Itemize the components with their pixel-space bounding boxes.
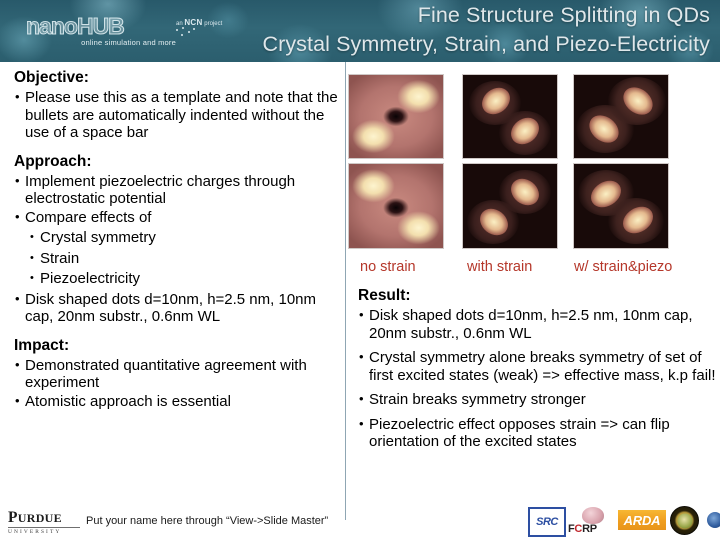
logo-hub-text: HUB	[77, 13, 124, 39]
approach-heading: Approach:	[14, 152, 344, 171]
sponsor-logos: SRC FCRP ARDA	[528, 505, 716, 537]
list-item: Disk shaped dots d=10nm, h=2.5 nm, 10nm …	[358, 307, 716, 342]
column-divider	[345, 62, 346, 520]
list-item: Piezoelectric effect opposes strain => c…	[358, 416, 716, 451]
src-logo: SRC	[528, 507, 566, 537]
list-item: Please use this as a template and note t…	[14, 89, 344, 142]
figure-label-strain-piezo: w/ strain&piezo	[574, 258, 672, 276]
impact-heading: Impact:	[14, 336, 344, 355]
list-item: Disk shaped dots d=10nm, h=2.5 nm, 10nm …	[14, 291, 344, 326]
government-seal-logo	[670, 506, 699, 535]
fcrp-logo: FCRP	[568, 507, 612, 535]
panel-strain-piezo-state-1	[573, 74, 669, 159]
figure-label-no-strain: no strain	[360, 258, 416, 276]
slide-title: Fine Structure Splitting in QDs Crystal …	[150, 1, 710, 59]
list-item: Implement piezoelectric charges through …	[14, 173, 344, 208]
wavefunction-plot	[574, 164, 668, 248]
nsf-globe-icon	[707, 512, 720, 528]
purdue-logo: PURDUE UNIVERSITY	[8, 510, 80, 534]
list-item: Strain	[14, 250, 344, 268]
list-item: Strain breaks symmetry stronger	[358, 391, 716, 409]
list-item: Crystal symmetry alone breaks symmetry o…	[358, 349, 716, 384]
purdue-wordmark: PURDUE	[8, 510, 80, 526]
panel-strain-piezo-state-2	[573, 163, 669, 249]
panel-with-strain-state-1	[462, 74, 558, 159]
footer-note: Put your name here through “View->Slide …	[86, 515, 328, 527]
panel-no-strain-state-2	[348, 163, 444, 249]
wavefunction-plot	[463, 164, 557, 248]
list-item: Piezoelectricity	[14, 270, 344, 288]
panel-with-strain-state-2	[462, 163, 558, 249]
logo-nano-text: nano	[26, 13, 77, 39]
impact-bullet-list: Demonstrated quantitative agreement with…	[14, 357, 344, 411]
objective-bullet-list: Please use this as a template and note t…	[14, 89, 344, 142]
approach-bullet-list: Implement piezoelectric charges through …	[14, 173, 344, 326]
list-item: Atomistic approach is essential	[14, 393, 344, 411]
nsf-logo	[701, 506, 720, 534]
slide-title-line2: Crystal Symmetry, Strain, and Piezo-Elec…	[150, 30, 710, 59]
purdue-university-text: UNIVERSITY	[8, 529, 80, 535]
wavefunction-plot	[463, 75, 557, 158]
result-bullet-list: Disk shaped dots d=10nm, h=2.5 nm, 10nm …	[358, 307, 716, 451]
objective-heading: Objective:	[14, 68, 344, 87]
wavefunction-figure-grid	[348, 74, 716, 250]
figure-column-labels: no strain with strain w/ strain&piezo	[348, 258, 720, 278]
wavefunction-plot	[349, 75, 443, 158]
fcrp-brain-icon	[582, 507, 604, 524]
arda-logo: ARDA	[618, 510, 666, 530]
left-content-column: Objective: Please use this as a template…	[14, 68, 344, 411]
result-heading: Result:	[358, 286, 716, 305]
list-item: Crystal symmetry	[14, 229, 344, 247]
list-item: Compare effects of	[14, 209, 344, 227]
wavefunction-plot	[349, 164, 443, 248]
list-item: Demonstrated quantitative agreement with…	[14, 357, 344, 392]
panel-no-strain-state-1	[348, 74, 444, 159]
wavefunction-plot	[574, 75, 668, 158]
figure-label-with-strain: with strain	[467, 258, 532, 276]
slide: nanoHUB online simulation and more an NC…	[0, 0, 720, 540]
purdue-divider-rule	[8, 527, 80, 528]
fcrp-text: FCRP	[568, 523, 597, 535]
slide-title-line1: Fine Structure Splitting in QDs	[150, 1, 710, 30]
slide-header: nanoHUB online simulation and more an NC…	[0, 0, 720, 62]
right-content-column: Result: Disk shaped dots d=10nm, h=2.5 n…	[358, 286, 716, 452]
